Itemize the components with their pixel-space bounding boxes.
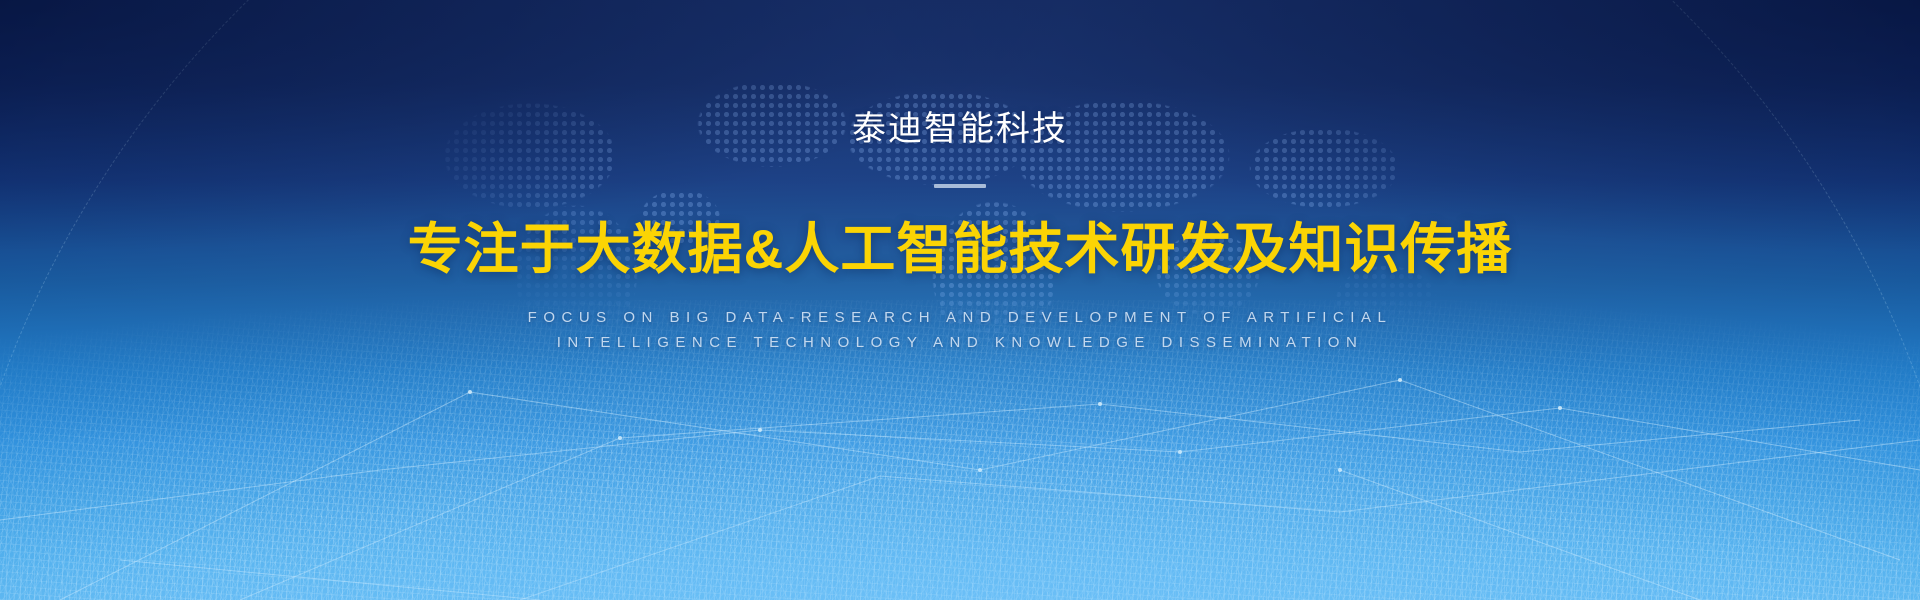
headline: 专注于大数据&人工智能技术研发及知识传播 <box>408 220 1513 279</box>
brand-name: 泰迪智能科技 <box>852 112 1068 146</box>
title-divider <box>934 184 986 188</box>
subtitle: FOCUS ON BIG DATA-RESEARCH AND DEVELOPME… <box>528 305 1393 355</box>
subtitle-line-2: INTELLIGENCE TECHNOLOGY AND KNOWLEDGE DI… <box>528 330 1393 355</box>
subtitle-line-1: FOCUS ON BIG DATA-RESEARCH AND DEVELOPME… <box>528 305 1393 330</box>
banner-content: 泰迪智能科技 专注于大数据&人工智能技术研发及知识传播 FOCUS ON BIG… <box>0 0 1920 600</box>
hero-banner: 泰迪智能科技 专注于大数据&人工智能技术研发及知识传播 FOCUS ON BIG… <box>0 0 1920 600</box>
